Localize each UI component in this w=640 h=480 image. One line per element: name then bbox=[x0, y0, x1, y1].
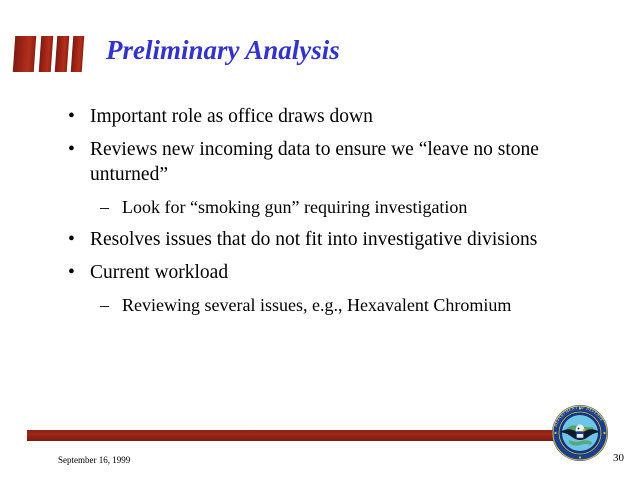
footer-accent-bar bbox=[27, 430, 558, 441]
bullet-item: • Current workload bbox=[62, 260, 607, 285]
bullet-item: • Reviews new incoming data to ensure we… bbox=[62, 137, 607, 187]
sub-bullet-text: Look for “smoking gun” requiring investi… bbox=[122, 195, 607, 219]
page-number: 30 bbox=[613, 452, 624, 464]
decoration-bar bbox=[71, 36, 85, 72]
bullet-marker: • bbox=[68, 260, 75, 285]
bullet-text: Reviews new incoming data to ensure we “… bbox=[90, 137, 607, 187]
slide-body: • Important role as office draws down • … bbox=[62, 104, 607, 325]
bullet-marker: • bbox=[68, 104, 75, 129]
footer-date: September 16, 1999 bbox=[58, 455, 130, 465]
slide-title: Preliminary Analysis bbox=[106, 35, 340, 66]
title-decoration-bars bbox=[14, 36, 86, 72]
sub-bullet-text: Reviewing several issues, e.g., Hexavale… bbox=[122, 293, 607, 317]
sub-bullet-item: – Reviewing several issues, e.g., Hexava… bbox=[62, 293, 607, 317]
dod-seal-icon: DEPARTMENT OF DEFENSE bbox=[551, 404, 609, 462]
bullet-text: Current workload bbox=[90, 260, 607, 285]
decoration-bar bbox=[55, 36, 70, 72]
presentation-slide: Preliminary Analysis • Important role as… bbox=[0, 0, 640, 480]
bullet-marker: • bbox=[68, 227, 75, 252]
bullet-item: • Resolves issues that do not fit into i… bbox=[62, 227, 607, 252]
decoration-bar bbox=[39, 36, 54, 72]
decoration-bar bbox=[13, 36, 37, 72]
bullet-marker: • bbox=[68, 137, 75, 162]
sub-bullet-marker: – bbox=[100, 293, 109, 317]
bullet-text: Important role as office draws down bbox=[90, 104, 607, 129]
sub-bullet-marker: – bbox=[100, 195, 109, 219]
sub-bullet-item: – Look for “smoking gun” requiring inves… bbox=[62, 195, 607, 219]
bullet-item: • Important role as office draws down bbox=[62, 104, 607, 129]
bullet-text: Resolves issues that do not fit into inv… bbox=[90, 227, 607, 252]
